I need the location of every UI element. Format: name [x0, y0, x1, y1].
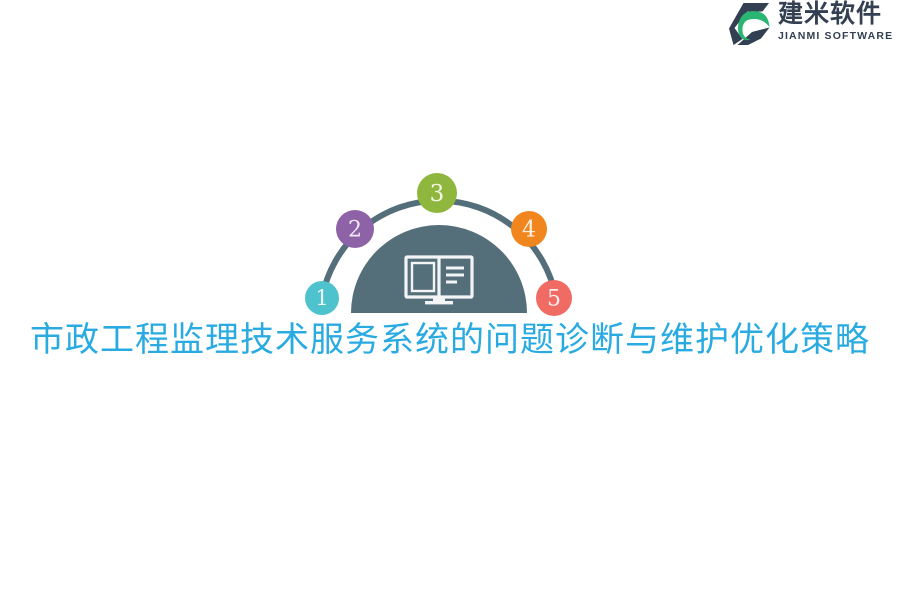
step-circle-3[interactable]: 3 — [417, 173, 457, 213]
brand-text-block: 建米软件 JIANMI SOFTWARE — [778, 0, 893, 43]
jianmi-logo-mark — [728, 1, 774, 47]
numbered-arc-dome-diagram: 1 2 3 4 5 — [289, 158, 589, 318]
brand-logo[interactable]: 建米软件 JIANMI SOFTWARE — [728, 0, 894, 50]
step-circle-2[interactable]: 2 — [336, 210, 374, 248]
step-circle-4-label: 4 — [522, 218, 536, 243]
page-title: 市政工程监理技术服务系统的问题诊断与维护优化策略 — [0, 318, 900, 362]
step-circle-4[interactable]: 4 — [511, 211, 547, 247]
page-root: 建米软件 JIANMI SOFTWARE — [0, 0, 900, 600]
step-circle-5[interactable]: 5 — [536, 280, 572, 316]
step-circle-5-label: 5 — [547, 287, 561, 312]
step-circle-1-label: 1 — [315, 286, 328, 310]
step-circle-2-label: 2 — [348, 218, 362, 243]
step-circle-3-label: 3 — [430, 181, 445, 207]
brand-subtitle: JIANMI SOFTWARE — [778, 29, 893, 43]
step-circle-1[interactable]: 1 — [305, 281, 339, 315]
brand-name: 建米软件 — [778, 0, 893, 28]
